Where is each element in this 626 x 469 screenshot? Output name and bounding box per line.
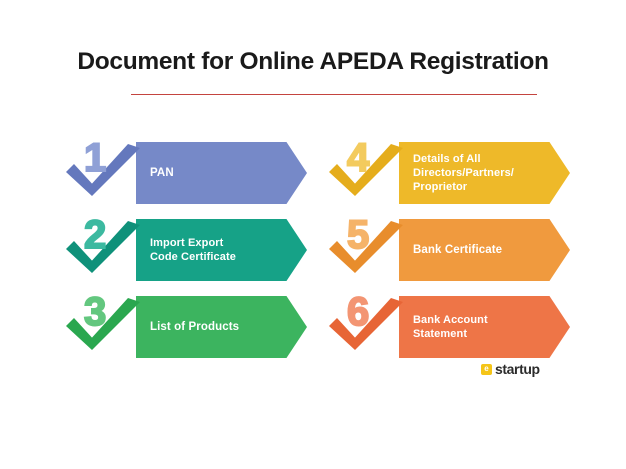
item-banner-4: Details of All Directors/Partners/ Propr… (399, 142, 570, 204)
item-label-line3: Proprietor (413, 181, 467, 193)
list-item[interactable]: Import Export Code Certificate 2 (62, 219, 307, 281)
item-label-line1: Import Export (150, 237, 223, 249)
item-label-line1: Bank Account (413, 314, 488, 326)
list-item[interactable]: Details of All Directors/Partners/ Propr… (325, 142, 570, 204)
brand-logo[interactable]: e startup (481, 361, 540, 377)
item-number: 2 (84, 215, 106, 255)
item-label: Import Export Code Certificate (136, 236, 244, 265)
item-number: 4 (347, 138, 369, 178)
item-banner-2: Import Export Code Certificate (136, 219, 307, 281)
item-banner-1: PAN (136, 142, 307, 204)
left-column: PAN 1 Import Export Code Certificate (62, 142, 307, 373)
list-item[interactable]: Bank Certificate 5 (325, 219, 570, 281)
item-label-line2: Directors/Partners/ (413, 167, 514, 179)
item-banner-6: Bank Account Statement (399, 296, 570, 358)
item-label: PAN (136, 166, 182, 181)
items-grid: PAN 1 Import Export Code Certificate (0, 142, 626, 372)
item-number: 3 (84, 292, 106, 332)
logo-mark-icon: e (481, 364, 492, 375)
item-label: Details of All Directors/Partners/ Propr… (399, 152, 522, 195)
list-item[interactable]: List of Products 3 (62, 296, 307, 358)
item-label-line1: Details of All (413, 153, 481, 165)
item-number: 5 (347, 215, 369, 255)
logo-wordmark: startup (495, 361, 540, 377)
right-column: Details of All Directors/Partners/ Propr… (325, 142, 570, 373)
item-label-line2: Code Certificate (150, 251, 236, 263)
page-title: Document for Online APEDA Registration (0, 48, 626, 76)
list-item[interactable]: PAN 1 (62, 142, 307, 204)
list-item[interactable]: Bank Account Statement 6 (325, 296, 570, 358)
title-underline (131, 94, 537, 95)
item-label-line2: Statement (413, 328, 467, 340)
item-banner-3: List of Products (136, 296, 307, 358)
item-label: List of Products (136, 320, 247, 335)
item-label: Bank Certificate (399, 243, 510, 258)
item-number: 1 (84, 138, 106, 178)
item-number: 6 (347, 292, 369, 332)
item-label: Bank Account Statement (399, 313, 496, 342)
title-block: Document for Online APEDA Registration (0, 48, 626, 76)
item-banner-5: Bank Certificate (399, 219, 570, 281)
infographic-canvas: Document for Online APEDA Registration P… (0, 0, 626, 469)
